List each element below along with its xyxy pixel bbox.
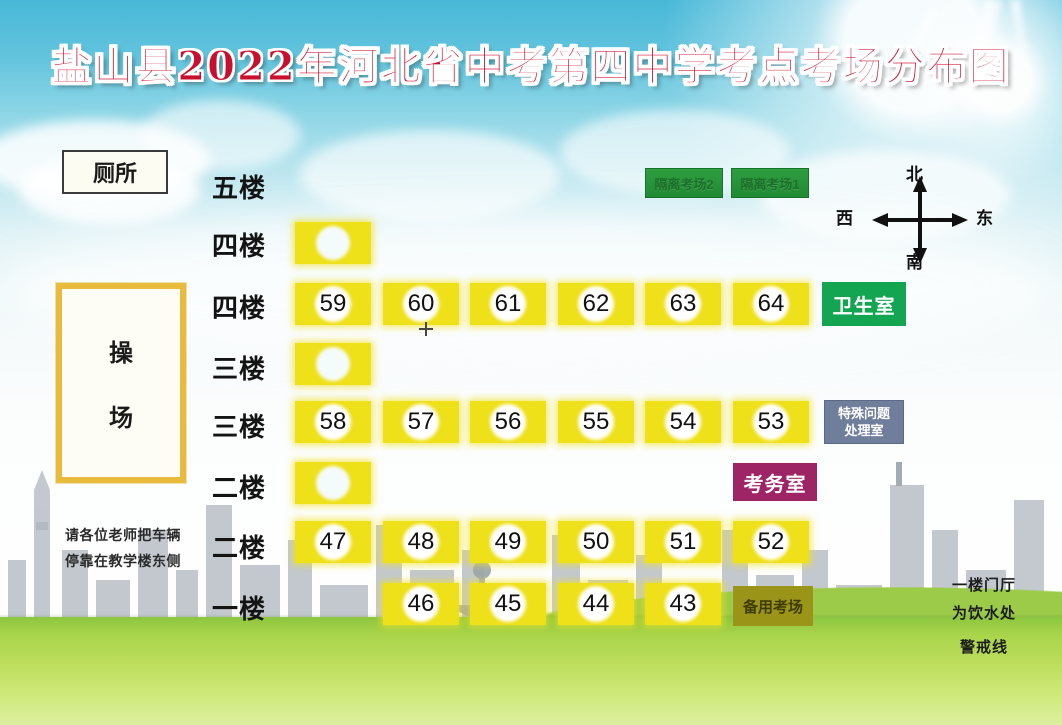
floor-label-1: 五楼 <box>196 168 282 205</box>
page-title: 盐山县2022年河北省中考第四中学考点考场分布图 <box>0 34 1062 92</box>
parking-note: 请各位老师把车辆 停靠在教学楼东侧 <box>38 522 208 574</box>
compass-south-label: 南 <box>906 248 923 273</box>
exam-room-number: 57 <box>408 408 435 436</box>
exam-room-54[interactable]: 54 <box>645 401 721 443</box>
isolation-room-box-2[interactable]: 隔离考场1 <box>731 168 809 198</box>
exam-room-64[interactable]: 64 <box>733 283 809 325</box>
exam-room-61[interactable]: 61 <box>470 283 546 325</box>
exam-room-number: 58 <box>320 408 347 436</box>
clinic-box[interactable]: 卫生室 <box>822 282 906 326</box>
grass-field <box>0 617 1062 725</box>
stairwell-marker-1 <box>295 222 371 264</box>
exam-room-number: 61 <box>495 290 522 318</box>
exam-room-number: 47 <box>320 528 347 556</box>
exam-room-57[interactable]: 57 <box>383 401 459 443</box>
lobby-note: 一楼门厅 为饮水处 <box>924 572 1044 628</box>
compass-west-label: 西 <box>836 204 853 229</box>
exam-room-number: 51 <box>670 528 697 556</box>
exam-room-52[interactable]: 52 <box>733 521 809 563</box>
lobby-note-line1: 一楼门厅 <box>924 572 1044 600</box>
floor-label-5: 三楼 <box>196 407 282 444</box>
exam-room-44[interactable]: 44 <box>558 583 634 625</box>
exam-room-59[interactable]: 59 <box>295 283 371 325</box>
floor-label-4: 三楼 <box>196 349 282 386</box>
special-issue-line2: 处理室 <box>844 422 883 439</box>
toilet-box: 厕所 <box>62 150 168 194</box>
exam-room-55[interactable]: 55 <box>558 401 634 443</box>
exam-room-number: 50 <box>583 528 610 556</box>
exam-room-number: 63 <box>670 290 697 318</box>
exam-room-number: 60 <box>408 290 435 318</box>
exam-room-47[interactable]: 47 <box>295 521 371 563</box>
stairwell-disc <box>316 347 350 381</box>
exam-room-number: 46 <box>408 590 435 618</box>
exam-room-53[interactable]: 53 <box>733 401 809 443</box>
parking-note-line2: 停靠在教学楼东侧 <box>38 548 208 574</box>
cordon-line-note: 警戒线 <box>924 636 1044 657</box>
exam-room-number: 44 <box>583 590 610 618</box>
exam-room-number: 49 <box>495 528 522 556</box>
exam-room-56[interactable]: 56 <box>470 401 546 443</box>
exam-room-number: 62 <box>583 290 610 318</box>
exam-room-62[interactable]: 62 <box>558 283 634 325</box>
exam-room-number: 53 <box>758 408 785 436</box>
exam-room-43[interactable]: 43 <box>645 583 721 625</box>
exam-room-number: 45 <box>495 590 522 618</box>
spare-exam-room-box[interactable]: 备用考场 <box>733 586 813 626</box>
lobby-note-line2: 为饮水处 <box>924 600 1044 628</box>
stairwell-marker-3 <box>295 462 371 504</box>
exam-room-60[interactable]: 60 <box>383 283 459 325</box>
floor-label-3: 四楼 <box>196 288 282 325</box>
special-issue-line1: 特殊问题 <box>838 405 890 422</box>
isolation-room-box-1[interactable]: 隔离考场2 <box>645 168 723 198</box>
exam-room-number: 55 <box>583 408 610 436</box>
exam-room-number: 64 <box>758 290 785 318</box>
exam-room-49[interactable]: 49 <box>470 521 546 563</box>
cloud-shape <box>300 130 560 220</box>
compass-east-label: 东 <box>976 204 993 229</box>
exam-room-58[interactable]: 58 <box>295 401 371 443</box>
floor-label-8: 一楼 <box>196 589 282 626</box>
mouse-cursor <box>419 322 433 336</box>
exam-room-number: 59 <box>320 290 347 318</box>
floor-label-7: 二楼 <box>196 528 282 565</box>
exam-room-45[interactable]: 45 <box>470 583 546 625</box>
playground-label-line1: 操 <box>109 333 133 368</box>
exam-affairs-office-box[interactable]: 考务室 <box>733 463 817 501</box>
exam-room-number: 56 <box>495 408 522 436</box>
stairwell-disc <box>316 466 350 500</box>
exam-room-number: 52 <box>758 528 785 556</box>
exam-room-63[interactable]: 63 <box>645 283 721 325</box>
exam-room-number: 43 <box>670 590 697 618</box>
playground-box: 操 场 <box>56 283 186 483</box>
exam-room-46[interactable]: 46 <box>383 583 459 625</box>
compass-north-label: 北 <box>906 160 923 185</box>
stairwell-marker-2 <box>295 343 371 385</box>
exam-room-number: 54 <box>670 408 697 436</box>
compass-rose: 北 南 西 东 <box>838 160 998 270</box>
playground-label-line2: 场 <box>109 398 133 433</box>
floor-label-2: 四楼 <box>196 226 282 263</box>
floor-label-6: 二楼 <box>196 468 282 505</box>
exam-room-50[interactable]: 50 <box>558 521 634 563</box>
exam-room-map-poster: 盐山县2022年河北省中考第四中学考点考场分布图 厕所 操 场 请各位老师把车辆… <box>0 0 1062 725</box>
exam-room-number: 48 <box>408 528 435 556</box>
exam-room-51[interactable]: 51 <box>645 521 721 563</box>
exam-room-48[interactable]: 48 <box>383 521 459 563</box>
parking-note-line1: 请各位老师把车辆 <box>38 522 208 548</box>
special-issue-room-box[interactable]: 特殊问题 处理室 <box>824 400 904 444</box>
stairwell-disc <box>316 226 350 260</box>
